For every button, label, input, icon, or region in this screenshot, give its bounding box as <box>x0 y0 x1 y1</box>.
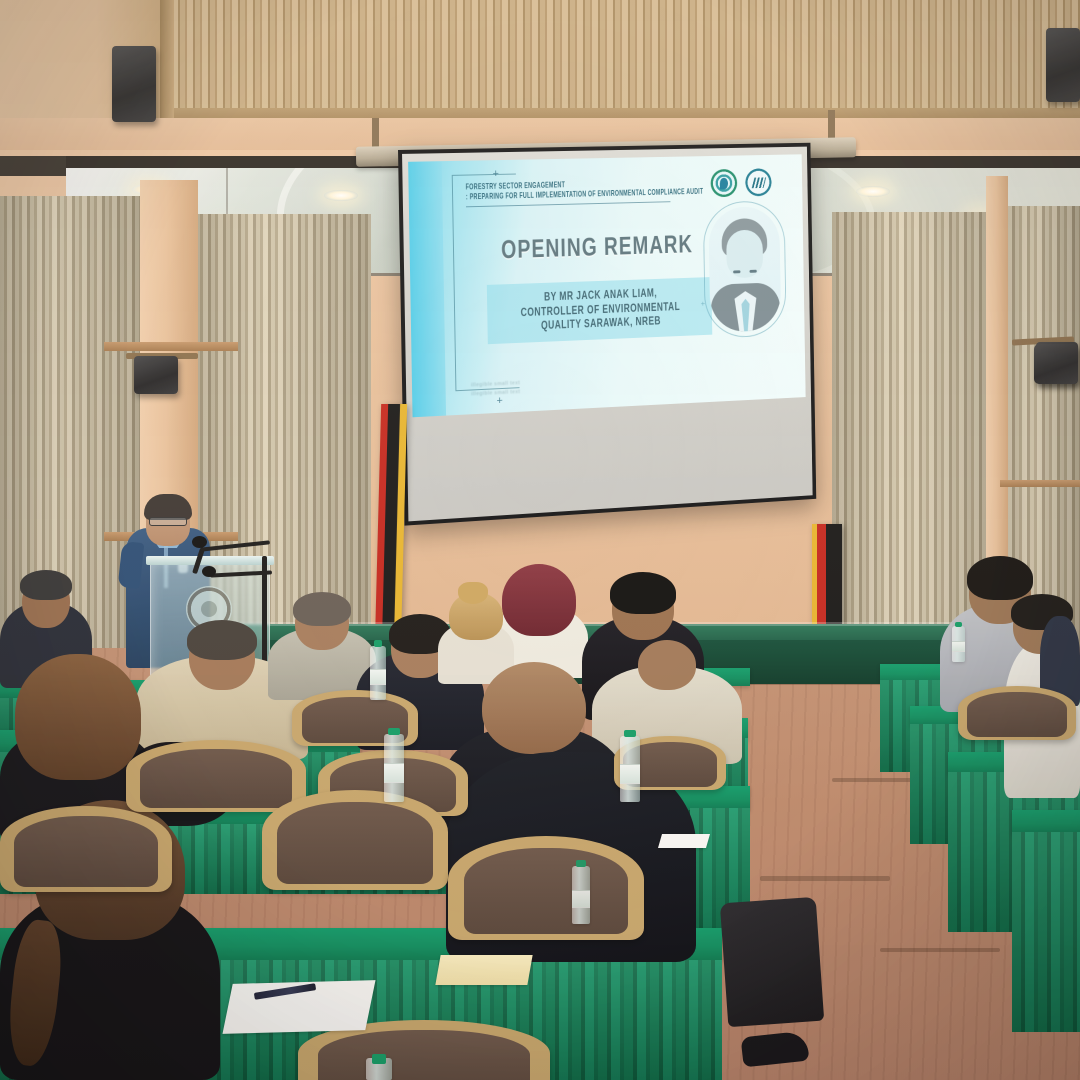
attendee-hair <box>293 592 351 626</box>
wall-speaker-upper-left <box>112 46 156 122</box>
secondary-agency-logo-icon <box>745 168 772 196</box>
presenter-shoulder <box>118 541 145 589</box>
projected-slide: + + + + FORESTRY SECTOR ENGAGEMENT : PRE… <box>408 154 806 417</box>
conference-hall-photograph: + + + + FORESTRY SECTOR ENGAGEMENT : PRE… <box>0 0 1080 1080</box>
speaker-portrait-illustration <box>708 206 781 333</box>
ceiling-soffit-left <box>0 156 66 176</box>
attendee-hair <box>15 654 141 780</box>
slide-subtitle-box: BY MR JACK ANAK LIAM, CONTROLLER OF ENVI… <box>487 277 712 344</box>
slide-tick-top: + <box>493 169 499 180</box>
wall-post <box>160 0 174 122</box>
water-bottle <box>952 626 965 662</box>
screen-hanger-left <box>372 118 379 148</box>
table-skirt-right-nearest <box>1012 832 1080 1032</box>
eyeglasses-icon <box>149 517 187 526</box>
slide-title: OPENING REMARK <box>479 229 714 266</box>
chair-row3-left <box>0 806 172 892</box>
slide-logo-group <box>710 168 771 197</box>
backpack-on-floor <box>720 897 824 1027</box>
microphone-head-1 <box>192 536 207 548</box>
water-bottle <box>384 734 404 802</box>
slide-accent-band <box>408 161 446 417</box>
table-right-nearest <box>1012 810 1080 834</box>
attendee-hair <box>187 620 257 660</box>
attendee-hair <box>20 570 72 600</box>
screen-surface: + + + + FORESTRY SECTOR ENGAGEMENT : PRE… <box>402 147 813 522</box>
portrait-face <box>726 229 763 278</box>
chair-row3-centre <box>262 790 448 890</box>
water-bottle <box>366 1058 392 1080</box>
water-bottle <box>572 866 590 924</box>
yellow-notepad <box>435 955 532 985</box>
attendee-hair <box>967 556 1033 600</box>
nreb-logo-icon <box>710 169 737 197</box>
microphone-head-2 <box>202 566 216 577</box>
ceiling-downlight <box>324 190 358 201</box>
wall-speaker-upper-right <box>1046 28 1080 102</box>
water-bottle <box>370 646 386 700</box>
projection-screen: + + + + FORESTRY SECTOR ENGAGEMENT : PRE… <box>398 143 816 526</box>
attendee-hair-bun <box>458 582 488 604</box>
attendee-hair <box>610 572 676 614</box>
water-bottle <box>620 736 640 802</box>
wall-speaker-left <box>134 356 178 394</box>
chair-row3-right <box>448 836 644 940</box>
chair-far-right <box>958 686 1076 740</box>
ceiling-downlight <box>856 186 890 197</box>
ceiling-mounted-projector <box>1034 344 1078 384</box>
note-paper-right <box>658 834 710 848</box>
podium-top-ledge <box>146 556 274 565</box>
wall-trim-right <box>1000 480 1080 487</box>
